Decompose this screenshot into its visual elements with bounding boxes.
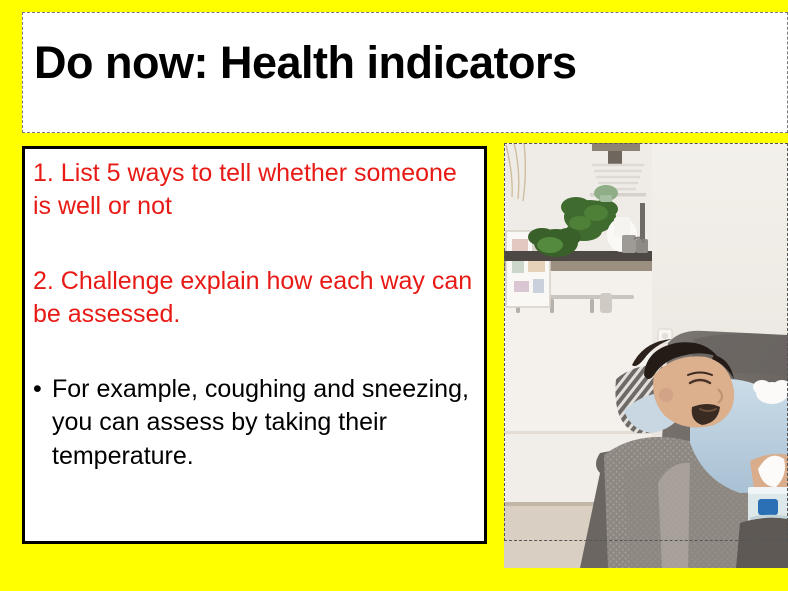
- bullet-dot-icon: •: [33, 373, 52, 406]
- slide-photo[interactable]: [504, 143, 788, 568]
- page-title: Do now: Health indicators: [34, 39, 577, 86]
- list-item: • For example, coughing and sneezing, yo…: [33, 373, 478, 473]
- photo-illustration: [504, 143, 788, 568]
- example-bullet-text: For example, coughing and sneezing, you …: [52, 373, 478, 473]
- title-placeholder[interactable]: Do now: Health indicators: [22, 12, 788, 133]
- task-paragraph-2: 2. Challenge explain how each way can be…: [33, 265, 478, 332]
- content-placeholder[interactable]: 1. List 5 ways to tell whether someone i…: [22, 146, 487, 544]
- task-paragraph-1: 1. List 5 ways to tell whether someone i…: [33, 157, 478, 224]
- slide-canvas: Do now: Health indicators 1. List 5 ways…: [0, 0, 788, 591]
- content-text-body: 1. List 5 ways to tell whether someone i…: [33, 153, 478, 473]
